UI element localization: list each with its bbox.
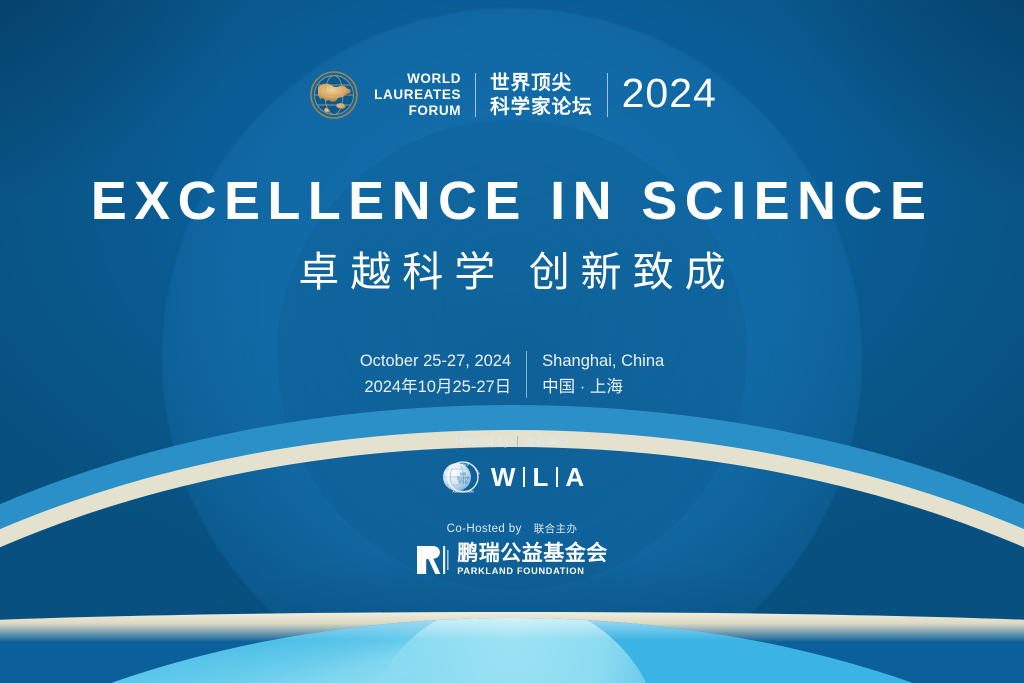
lockup-divider-2 [607, 73, 608, 117]
cohost-logo: 鹏瑞公益基金会 PARKLAND FOUNDATION [416, 543, 608, 576]
wla-wordmark: W L A [491, 462, 585, 493]
host-section: Hosted by 主办单位 [416, 434, 608, 576]
event-date-cn: 2024年10月25-27日 [360, 375, 511, 401]
poster-content: WORLD LAUREATES FORUM 世界顶尖 科学家论坛 2024 EX… [0, 0, 1024, 683]
event-location-en: Shanghai, China [542, 349, 664, 375]
wla-letter-l: L [532, 462, 549, 493]
meta-divider [526, 351, 527, 398]
svg-text:ASSOCIATION: ASSOCIATION [452, 490, 474, 494]
brand-name-cn: 世界顶尖 科学家论坛 [490, 71, 593, 119]
cohosted-by-label-cn: 联合主办 [534, 521, 578, 536]
page-title-cn: 卓越科学 创新致成 [287, 252, 736, 293]
parkland-wordmark: 鹏瑞公益基金会 PARKLAND FOUNDATION [457, 543, 608, 576]
event-date: October 25-27, 2024 2024年10月25-27日 [360, 349, 511, 400]
svg-text:WORLD: WORLD [457, 463, 469, 467]
event-date-en: October 25-27, 2024 [360, 349, 511, 375]
lockup-divider-1 [475, 73, 476, 117]
host-logo: WORLD ASSOCIATION LAU 世界 顶尖科学 家协会 W [439, 455, 585, 499]
hosted-by-divider [517, 436, 518, 447]
wla-sep-1 [523, 467, 525, 487]
wla-letter-w: W [491, 462, 517, 493]
wla-globe-seal-icon: WORLD ASSOCIATION LAU 世界 顶尖科学 家协会 [439, 455, 483, 499]
wla-sep-2 [556, 467, 558, 487]
svg-text:家协会: 家协会 [458, 479, 468, 484]
svg-text:LAU: LAU [474, 468, 481, 476]
cohosted-by-label: Co-Hosted by 联合主办 [447, 521, 578, 536]
hosted-by-label-en: Hosted by [455, 436, 510, 448]
cohost-name-en: PARKLAND FOUNDATION [457, 567, 608, 576]
hosted-by-label: Hosted by 主办单位 [455, 434, 569, 449]
brand-lockup: WORLD LAUREATES FORUM 世界顶尖 科学家论坛 2024 [307, 64, 717, 126]
event-meta: October 25-27, 2024 2024年10月25-27日 Shang… [360, 349, 664, 400]
event-location: Shanghai, China 中国 · 上海 [542, 349, 664, 400]
cohost-name-cn: 鹏瑞公益基金会 [457, 543, 608, 564]
event-year: 2024 [622, 73, 717, 117]
world-globe-icon [307, 68, 361, 122]
parkland-monogram-icon [416, 544, 450, 576]
hosted-by-label-cn: 主办单位 [525, 434, 569, 449]
cohosted-by-label-en: Co-Hosted by [447, 523, 522, 535]
event-location-cn: 中国 · 上海 [542, 375, 664, 401]
page-title: EXCELLENCE IN SCIENCE [91, 174, 934, 228]
brand-name-en: WORLD LAUREATES FORUM [374, 71, 461, 119]
wla-letter-a: A [565, 462, 585, 493]
event-poster: WORLD LAUREATES FORUM 世界顶尖 科学家论坛 2024 EX… [0, 0, 1024, 683]
